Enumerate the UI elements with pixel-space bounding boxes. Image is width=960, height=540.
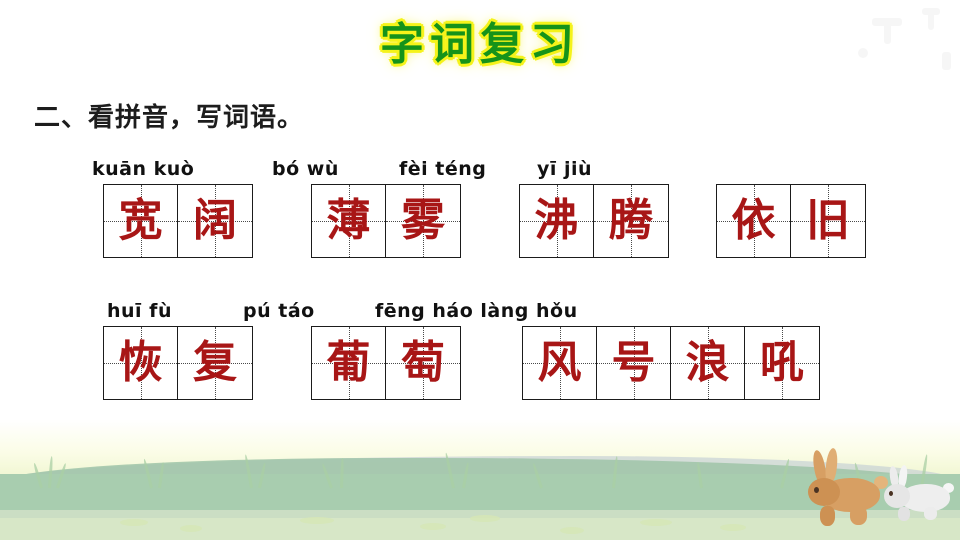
hanzi-char: 沸 [520,185,593,257]
grid-cell[interactable]: 腾 [594,185,668,257]
grid-line-2: 恢 复 葡 萄 风 号 浪 吼 [0,326,960,406]
grid-cell[interactable]: 旧 [791,185,865,257]
hanzi-char: 风 [523,327,596,399]
grid-cell[interactable]: 薄 [312,185,386,257]
word-group-yi-jiu[interactable]: 依 旧 [716,184,866,258]
grid-cell[interactable]: 吼 [745,327,819,399]
grid-cell[interactable]: 雾 [386,185,460,257]
hanzi-char: 恢 [104,327,177,399]
word-group-feng-hao-lang-hou[interactable]: 风 号 浪 吼 [522,326,820,400]
pinyin-line-2: huī fù pú táo fēng háo làng hǒu [0,300,960,326]
rabbits-illustration [794,446,954,532]
pinyin-kuan-kuo: kuān kuò [92,158,194,180]
pinyin-yi-jiu: yī jiù [537,158,592,180]
grid-cell[interactable]: 号 [597,327,671,399]
pinyin-fei-teng: fèi téng [399,158,486,180]
word-group-hui-fu[interactable]: 恢 复 [103,326,253,400]
grid-cell[interactable]: 沸 [520,185,594,257]
pinyin-pu-tao: pú táo [243,300,315,322]
grid-cell[interactable]: 复 [178,327,252,399]
hanzi-char: 阔 [178,185,252,257]
hanzi-char: 旧 [791,185,865,257]
grid-line-1: 宽 阔 薄 雾 沸 腾 依 旧 [0,184,960,264]
grid-cell[interactable]: 阔 [178,185,252,257]
hanzi-char: 葡 [312,327,385,399]
grid-cell[interactable]: 宽 [104,185,178,257]
pinyin-feng-hao-lang-hou: fēng háo làng hǒu [375,300,578,322]
hanzi-char: 雾 [386,185,460,257]
hanzi-char: 吼 [745,327,819,399]
word-group-fei-teng[interactable]: 沸 腾 [519,184,669,258]
grid-cell[interactable]: 萄 [386,327,460,399]
pinyin-hui-fu: huī fù [107,300,172,322]
hanzi-char: 薄 [312,185,385,257]
page-title: 字词复习 [0,8,960,72]
question-heading: 二、看拼音，写词语。 [34,97,304,134]
white-rabbit-icon [880,466,954,522]
pinyin-line-1: kuān kuò bó wù fèi téng yī jiù [0,158,960,184]
hanzi-char: 萄 [386,327,460,399]
hanzi-char: 依 [717,185,790,257]
grid-cell[interactable]: 依 [717,185,791,257]
brown-rabbit-icon [800,452,892,528]
grid-cell[interactable]: 浪 [671,327,745,399]
grid-cell[interactable]: 恢 [104,327,178,399]
hanzi-char: 腾 [594,185,668,257]
word-group-pu-tao[interactable]: 葡 萄 [311,326,461,400]
word-group-kuan-kuo[interactable]: 宽 阔 [103,184,253,258]
hanzi-char: 宽 [104,185,177,257]
grid-cell[interactable]: 葡 [312,327,386,399]
pinyin-bo-wu: bó wù [272,158,339,180]
word-row-1: kuān kuò bó wù fèi téng yī jiù 宽 阔 薄 雾 沸… [0,158,960,264]
word-row-2: huī fù pú táo fēng háo làng hǒu 恢 复 葡 萄 … [0,300,960,406]
hanzi-char: 复 [178,327,252,399]
word-group-bo-wu[interactable]: 薄 雾 [311,184,461,258]
grid-cell[interactable]: 风 [523,327,597,399]
hanzi-char: 浪 [671,327,744,399]
hanzi-char: 号 [597,327,670,399]
slide-root: 字词复习 二、看拼音，写词语。 kuān kuò bó wù fèi téng … [0,0,960,540]
